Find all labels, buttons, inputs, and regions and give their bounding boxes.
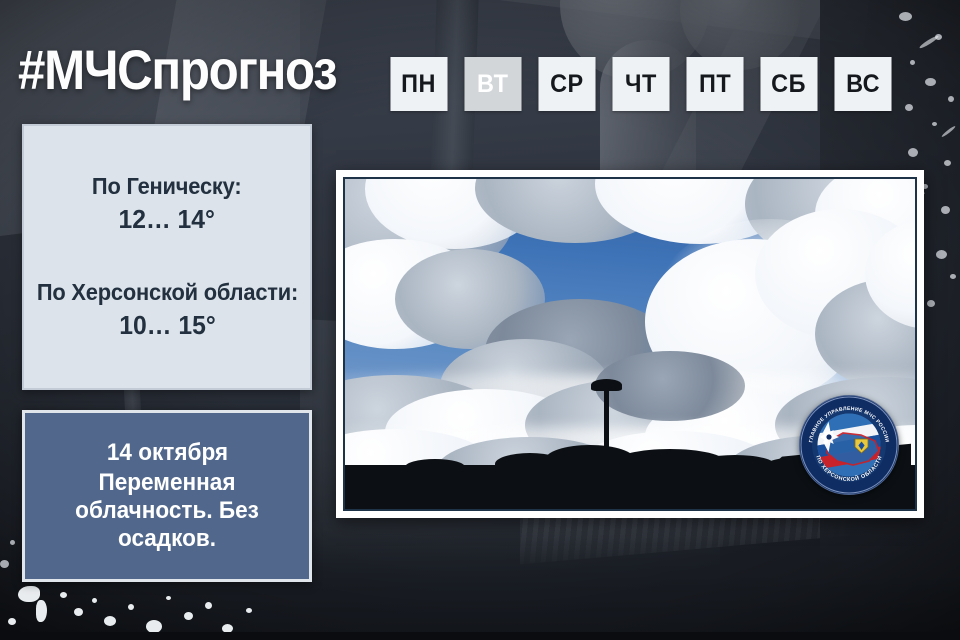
forecast-date: 14 октября bbox=[106, 439, 227, 467]
temperature-place-label: По Херсонской области: bbox=[36, 279, 297, 306]
day-label: ВТ bbox=[477, 70, 508, 99]
paint-splatter bbox=[60, 592, 67, 598]
water-droplet bbox=[925, 78, 936, 86]
paint-splatter bbox=[166, 596, 171, 600]
day-button-thu[interactable]: ЧТ bbox=[612, 57, 669, 111]
day-label: ПН bbox=[402, 70, 437, 99]
day-label: СР bbox=[550, 70, 584, 99]
day-selector[interactable]: ПН ВТ СР ЧТ ПТ СБ ВС bbox=[388, 57, 894, 111]
temperature-value: 12… 14° bbox=[92, 204, 241, 235]
paint-splatter bbox=[184, 612, 193, 620]
temperature-value: 10… 15° bbox=[36, 310, 297, 341]
forecast-description: Переменная облачность. Без осадков. bbox=[50, 469, 283, 552]
temperature-group-genichesk: По Геническу: 12… 14° bbox=[88, 173, 245, 235]
mchs-kherson-emblem: ГЛАВНОЕ УПРАВЛЕНИЕ МЧС РОССИИ ПО ХЕРСОНС… bbox=[799, 395, 899, 495]
paint-splatter bbox=[128, 604, 134, 610]
street-lamp-pole bbox=[604, 387, 609, 473]
paint-splatter bbox=[18, 586, 40, 602]
day-label: ПТ bbox=[699, 70, 731, 99]
day-label: ЧТ bbox=[625, 70, 657, 99]
paint-splatter bbox=[74, 608, 83, 616]
day-button-fri[interactable]: ПТ bbox=[686, 57, 743, 111]
weather-photo: ГЛАВНОЕ УПРАВЛЕНИЕ МЧС РОССИИ ПО ХЕРСОНС… bbox=[343, 177, 917, 511]
day-button-sat[interactable]: СБ bbox=[760, 57, 817, 111]
weather-photo-frame: ГЛАВНОЕ УПРАВЛЕНИЕ МЧС РОССИИ ПО ХЕРСОНС… bbox=[336, 170, 924, 518]
day-label: ВС bbox=[846, 70, 880, 99]
water-droplet bbox=[905, 104, 913, 111]
water-droplet bbox=[936, 250, 947, 259]
water-droplet bbox=[944, 160, 951, 166]
tree-silhouette bbox=[405, 459, 465, 475]
water-droplet bbox=[932, 122, 937, 126]
water-droplet bbox=[941, 206, 950, 214]
temperature-group-kherson-region: По Херсонской области: 10… 15° bbox=[30, 279, 305, 341]
day-button-sun[interactable]: ВС bbox=[834, 57, 891, 111]
temperature-place-label: По Геническу: bbox=[92, 173, 241, 200]
water-droplet bbox=[927, 300, 935, 307]
bottom-strip bbox=[0, 632, 960, 640]
tree-silhouette bbox=[695, 455, 775, 475]
paint-splatter bbox=[10, 540, 15, 545]
paint-splatter bbox=[0, 560, 9, 568]
water-droplet bbox=[899, 12, 912, 21]
paint-splatter bbox=[92, 598, 97, 603]
water-droplet bbox=[908, 148, 918, 157]
day-label: СБ bbox=[772, 70, 807, 99]
paint-splatter bbox=[246, 608, 252, 613]
forecast-panel: 14 октября Переменная облачность. Без ос… bbox=[22, 410, 312, 582]
street-lamp-head bbox=[591, 379, 622, 391]
temperature-panel: По Геническу: 12… 14° По Херсонской обла… bbox=[22, 124, 312, 390]
water-droplet bbox=[950, 274, 956, 279]
day-button-tue[interactable]: ВТ bbox=[464, 57, 521, 111]
mchs-forecast-card: #МЧСпрогноз ПН ВТ СР ЧТ ПТ СБ ВС По Гени… bbox=[0, 0, 960, 640]
paint-splatter bbox=[104, 616, 116, 626]
paint-splatter bbox=[205, 602, 212, 609]
paint-splatter bbox=[8, 618, 16, 625]
water-droplet bbox=[948, 96, 954, 102]
day-button-mon[interactable]: ПН bbox=[390, 57, 447, 111]
water-droplet bbox=[910, 60, 915, 65]
day-button-wed[interactable]: СР bbox=[538, 57, 595, 111]
page-title: #МЧСпрогноз bbox=[18, 42, 336, 98]
